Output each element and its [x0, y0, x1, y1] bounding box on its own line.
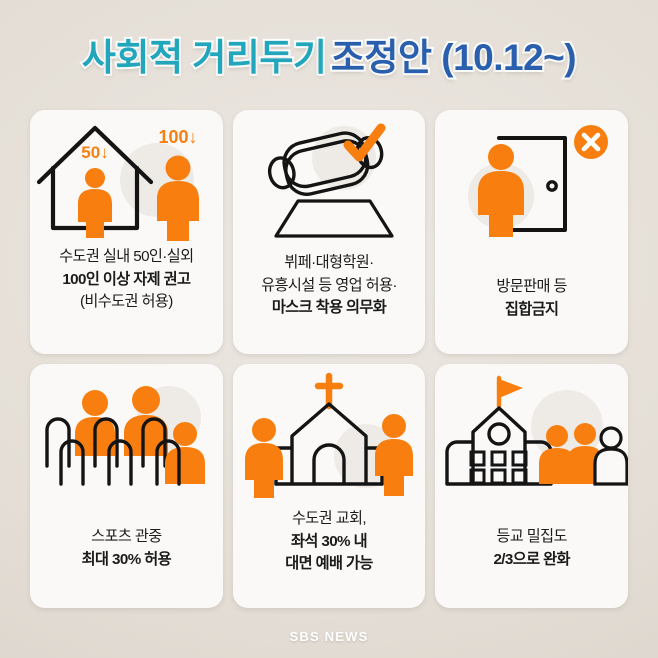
card-indoor-outdoor-limit[interactable]: 50↓ 100↓ 수도권 실내 50인·실외 100인 이상 자제 권고 (비수… [30, 110, 223, 354]
measures-grid: 50↓ 100↓ 수도권 실내 50인·실외 100인 이상 자제 권고 (비수… [30, 110, 628, 608]
footer-brand: SBS NEWS [0, 629, 658, 644]
card-caption: 방문판매 등 집합금지 [435, 276, 628, 321]
caption-line: 유흥시설 등 영업 허용· [239, 275, 420, 298]
card-church-worship[interactable]: 수도권 교회, 좌석 30% 내 대면 예배 가능 [233, 364, 426, 608]
page-title-secondary: 조정안 (10.12~) [331, 37, 576, 78]
door-to-door-ban-icon [435, 110, 628, 242]
card-caption: 수도권 교회, 좌석 30% 내 대면 예배 가능 [233, 508, 426, 576]
caption-line: 수도권 교회, [239, 508, 420, 531]
caption-line: (비수도권 허용) [36, 291, 217, 314]
church-icon [233, 364, 426, 496]
caption-line: 100인 이상 자제 권고 [36, 269, 217, 292]
card-business-allowed-mask-required[interactable]: 뷔페·대형학원· 유흥시설 등 영업 허용· 마스크 착용 의무화 [233, 110, 426, 354]
caption-line: 마스크 착용 의무화 [239, 297, 420, 320]
mask-table-check-icon [233, 110, 426, 242]
stadium-seats-icon [30, 364, 223, 496]
school-icon [435, 364, 628, 496]
card-caption: 등교 밀집도 2/3으로 완화 [435, 526, 628, 571]
caption-line: 스포츠 관중 [36, 526, 217, 549]
caption-line: 2/3으로 완화 [441, 549, 622, 572]
card-gathering-ban[interactable]: 방문판매 등 집합금지 [435, 110, 628, 354]
page-title-primary: 사회적 거리두기 [82, 37, 327, 78]
caption-line: 대면 예배 가능 [239, 553, 420, 576]
card-school-attendance[interactable]: 등교 밀집도 2/3으로 완화 [435, 364, 628, 608]
svg-text:100↓: 100↓ [159, 127, 198, 147]
svg-text:50↓: 50↓ [82, 143, 109, 162]
page-title: 사회적 거리두기 조정안 (10.12~) [0, 26, 658, 90]
caption-line: 뷔페·대형학원· [239, 252, 420, 275]
caption-line: 최대 30% 허용 [36, 549, 217, 572]
caption-line: 수도권 실내 50인·실외 [36, 246, 217, 269]
house-distancing-icon: 50↓ 100↓ [30, 110, 223, 242]
card-caption: 뷔페·대형학원· 유흥시설 등 영업 허용· 마스크 착용 의무화 [233, 252, 426, 320]
card-caption: 스포츠 관중 최대 30% 허용 [30, 526, 223, 571]
caption-line: 등교 밀집도 [441, 526, 622, 549]
caption-line: 방문판매 등 [441, 276, 622, 299]
card-caption: 수도권 실내 50인·실외 100인 이상 자제 권고 (비수도권 허용) [30, 246, 223, 314]
caption-line: 좌석 30% 내 [239, 531, 420, 554]
caption-line: 집합금지 [441, 299, 622, 322]
card-sports-spectators[interactable]: 스포츠 관중 최대 30% 허용 [30, 364, 223, 608]
